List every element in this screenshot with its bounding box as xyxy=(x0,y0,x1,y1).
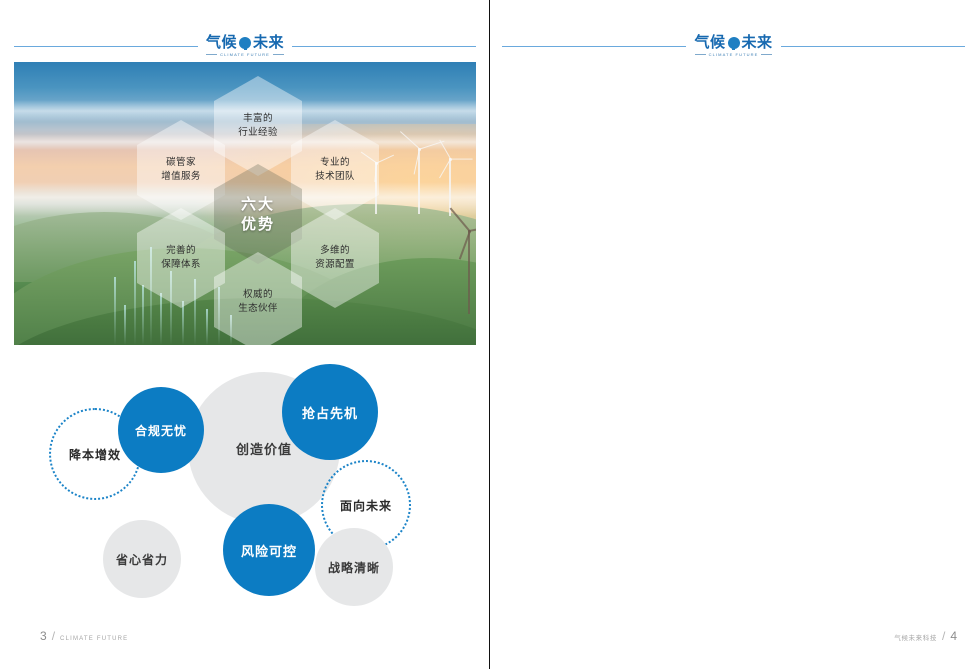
footer-brand-left: CLIMATE FUTURE xyxy=(60,636,128,642)
hexagon-resource-allocation: 多维的 资源配置 xyxy=(291,208,379,308)
value-bubble-label: 抢占先机 xyxy=(302,403,358,422)
hexagon-technical-team: 专业的 技术团队 xyxy=(291,120,379,220)
hexagon-label-line2: 增值服务 xyxy=(161,170,201,184)
header-rule-left xyxy=(502,46,686,47)
value-bubble: 合规无忧 xyxy=(118,387,204,473)
hexagon-label-line1: 完善的 xyxy=(166,244,196,258)
hexagon-label-line2: 行业经验 xyxy=(238,126,278,140)
value-bubble-label: 战略清晰 xyxy=(328,559,380,576)
brand-logo: 气候 未来 CLIMATE FUTURE xyxy=(198,35,292,57)
right-page-footer: 气候未来科技 / 4 xyxy=(894,629,957,643)
hero-image-wind-farm: 丰富的 行业经验 专业的 技术团队 碳管家 增值服务 六大 优势 多维的 资 xyxy=(14,62,476,345)
value-bubble: 战略清晰 xyxy=(315,528,393,606)
hexagon-label-line1: 碳管家 xyxy=(166,156,196,170)
right-page: 气候 未来 CLIMATE FUTURE COMPANY FOUNDER 公司创… xyxy=(490,0,979,669)
footer-slash-right: / xyxy=(942,629,945,643)
hexagon-label-line1: 多维的 xyxy=(320,244,350,258)
brand-logo-row: 气候 未来 xyxy=(206,35,284,50)
value-bubble-label: 合规无忧 xyxy=(135,422,187,439)
hexagon-center-line2: 优势 xyxy=(241,214,275,234)
hexagon-label-line2: 资源配置 xyxy=(315,258,355,272)
value-bubble: 抢占先机 xyxy=(282,364,378,460)
brand-name-cn-part2: 未来 xyxy=(742,35,773,50)
hexagon-industry-experience: 丰富的 行业经验 xyxy=(214,76,302,176)
brand-name-cn-part2: 未来 xyxy=(253,35,284,50)
hexagon-label-line1: 权威的 xyxy=(243,288,273,302)
brochure-spread: 气候 未来 CLIMATE FUTURE xyxy=(0,0,979,669)
hexagon-eco-partners: 权威的 生态伙伴 xyxy=(214,252,302,345)
brand-logo-row: 气候 未来 xyxy=(694,35,772,50)
brand-tagline: CLIMATE FUTURE xyxy=(695,52,773,57)
page-number-left: 3 xyxy=(40,629,47,643)
globe-pin-icon xyxy=(728,37,740,49)
brand-name-en: CLIMATE FUTURE xyxy=(220,52,270,57)
value-bubble-label: 风险可控 xyxy=(241,541,297,560)
brand-name-cn-part1: 气候 xyxy=(206,35,237,50)
page-number-right: 4 xyxy=(950,629,957,643)
left-page-footer: 3 / CLIMATE FUTURE xyxy=(40,629,128,643)
brand-name-cn-part1: 气候 xyxy=(694,35,725,50)
left-page-header: 气候 未来 CLIMATE FUTURE xyxy=(14,36,476,56)
hexagon-carbon-steward-service: 碳管家 增值服务 xyxy=(137,120,225,220)
brand-logo: 气候 未来 CLIMATE FUTURE xyxy=(686,35,780,57)
hexagon-label-line1: 丰富的 xyxy=(243,112,273,126)
tagline-dash-right xyxy=(273,54,284,55)
hexagon-center-line1: 六大 xyxy=(241,194,275,214)
value-bubble: 省心省力 xyxy=(103,520,181,598)
header-rule-left xyxy=(14,46,198,47)
value-bubble-label: 面向未来 xyxy=(340,497,392,514)
hexagon-advantages-diagram: 丰富的 行业经验 专业的 技术团队 碳管家 增值服务 六大 优势 多维的 资 xyxy=(14,62,476,345)
footer-slash-left: / xyxy=(52,629,55,643)
hexagon-label-line2: 技术团队 xyxy=(315,170,355,184)
header-rule-right xyxy=(292,46,476,47)
tagline-dash-left xyxy=(695,54,706,55)
right-page-header: 气候 未来 CLIMATE FUTURE xyxy=(502,36,965,56)
tagline-dash-right xyxy=(761,54,772,55)
page-spine-divider xyxy=(489,0,490,669)
brand-name-en: CLIMATE FUTURE xyxy=(709,52,759,57)
value-bubble: 风险可控 xyxy=(223,504,315,596)
hexagon-center-six-advantages: 六大 优势 xyxy=(214,164,302,264)
hexagon-label-line2: 生态伙伴 xyxy=(238,302,278,316)
header-rule-right xyxy=(781,46,965,47)
tagline-dash-left xyxy=(206,54,217,55)
hexagon-label-line2: 保障体系 xyxy=(161,258,201,272)
value-bubble-label: 省心省力 xyxy=(116,551,168,568)
footer-brand-right: 气候未来科技 xyxy=(894,632,937,642)
globe-pin-icon xyxy=(239,37,251,49)
value-bubble-diagram: 创造价值合规无忧抢占先机风险可控降本增效面向未来省心省力战略清晰 xyxy=(14,360,476,618)
left-page: 气候 未来 CLIMATE FUTURE xyxy=(0,0,489,669)
hexagon-guarantee-system: 完善的 保障体系 xyxy=(137,208,225,308)
value-bubble-label: 创造价值 xyxy=(236,439,292,458)
value-bubble-label: 降本增效 xyxy=(69,446,121,463)
hexagon-label-line1: 专业的 xyxy=(320,156,350,170)
brand-tagline: CLIMATE FUTURE xyxy=(206,52,284,57)
